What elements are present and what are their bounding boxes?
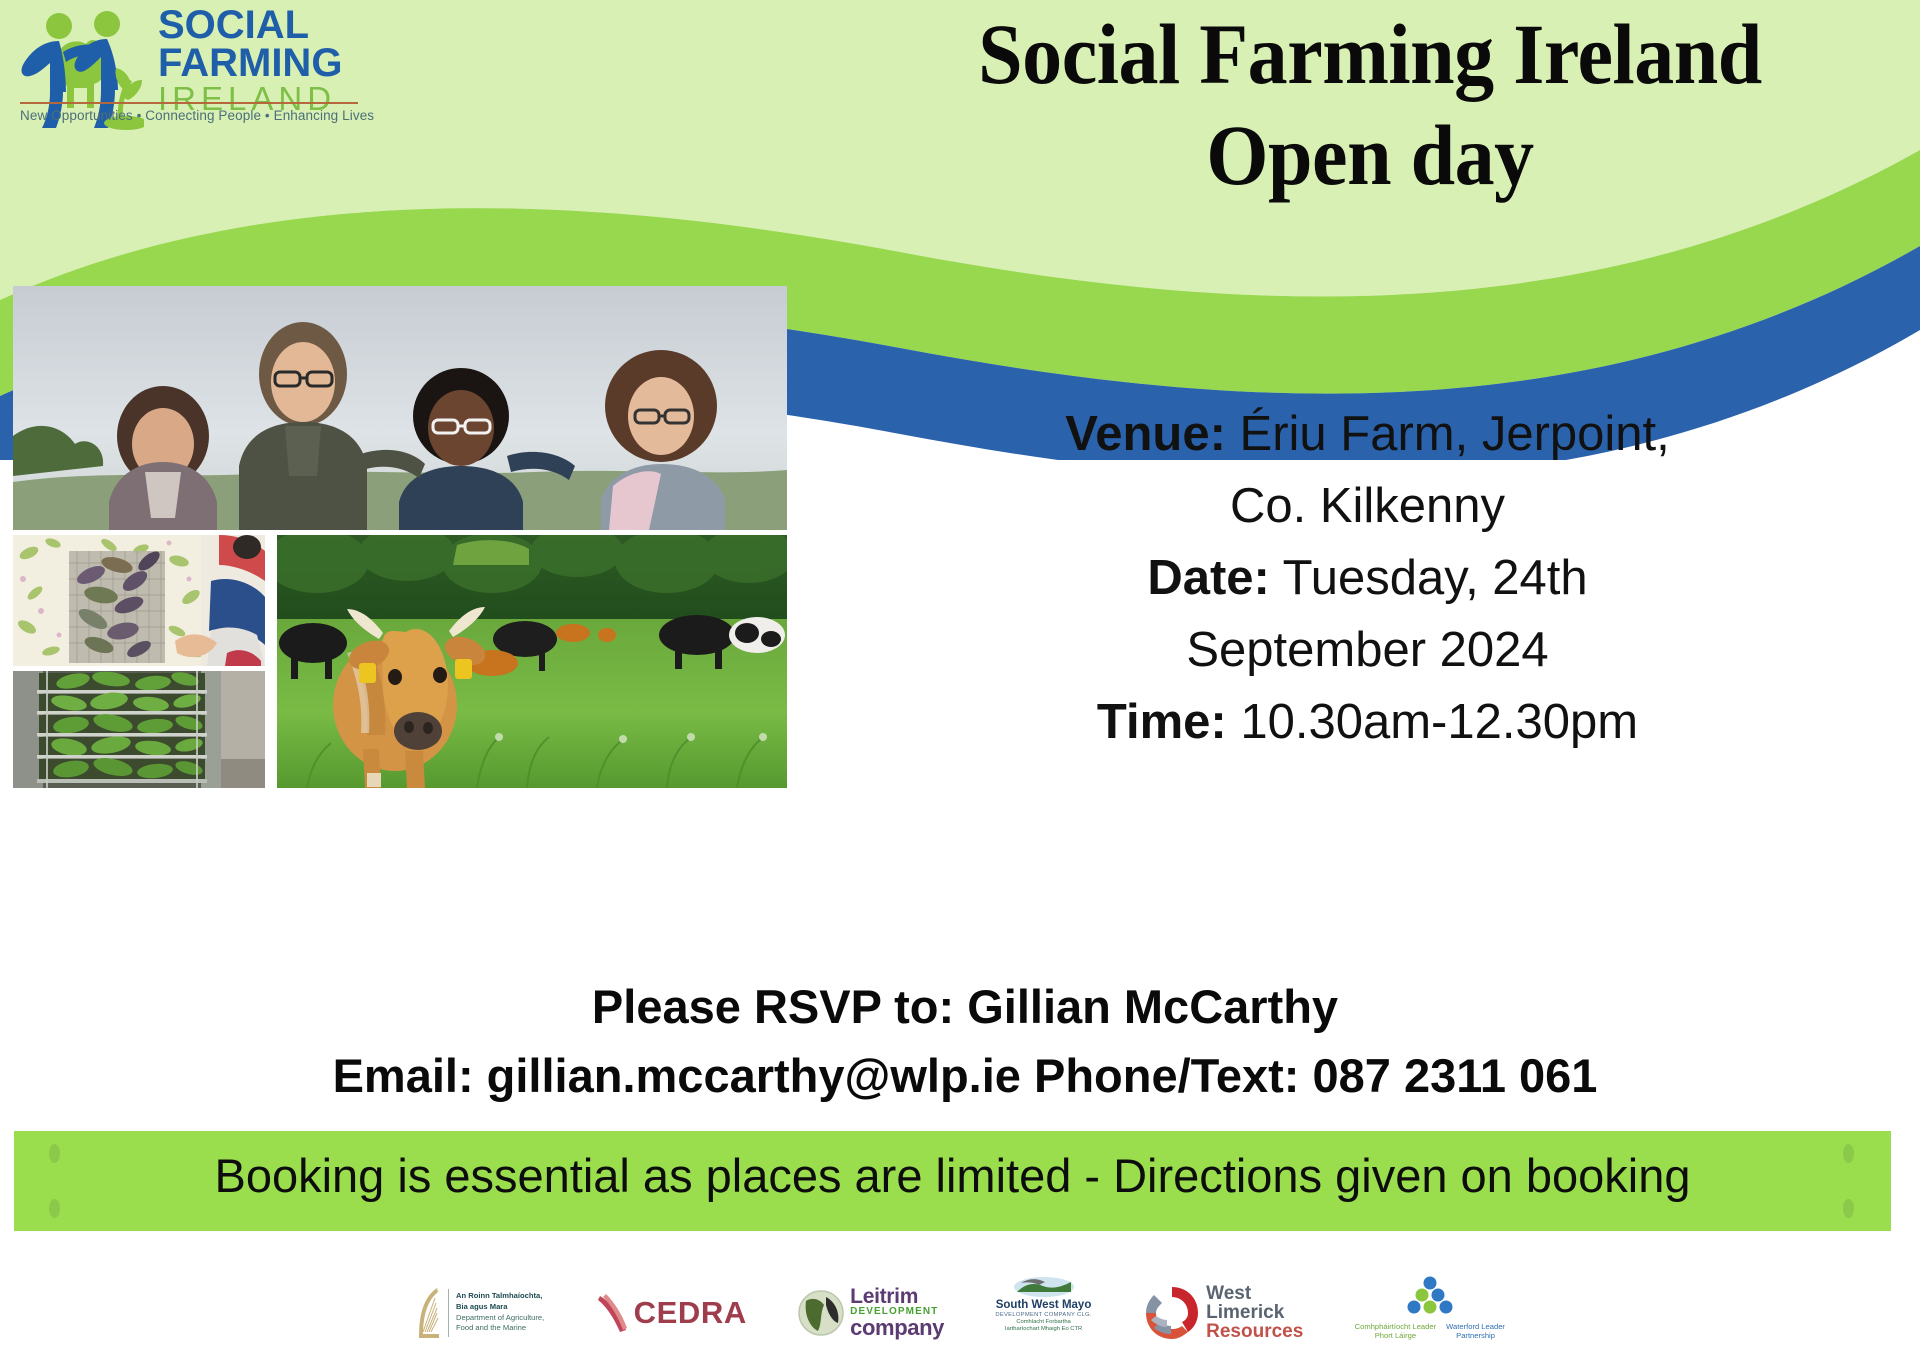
rsvp-contact-line: Please RSVP to: Gillian McCarthy (40, 978, 1890, 1035)
title-line-2: Open day (868, 105, 1872, 206)
swmayo-line-2: DEVELOPMENT COMPANY CLG. (995, 1312, 1091, 1318)
leitrim-line-1: Leitrim (850, 1286, 944, 1307)
cow-in-pasture-photo (277, 535, 787, 788)
venue-line-2: Co. Kilkenny (820, 470, 1915, 542)
dept-en-line-1: Department of Agriculture, (456, 1313, 544, 1324)
event-details: Venue: Ériu Farm, Jerpoint, Co. Kilkenny… (820, 398, 1915, 758)
leitrim-globe-icon (798, 1289, 844, 1337)
social-farming-ireland-logo: SOCIAL FARMING IRELAND New Opportunities… (10, 2, 370, 142)
logo-tagline: New Opportunities • Connecting People • … (20, 108, 365, 123)
waterford-leader-wordmark: Comhpháirtíocht Leader Phort Láirge Wate… (1355, 1322, 1505, 1341)
venue-label: Venue: (1065, 407, 1226, 461)
wlr-line-3: Resources (1206, 1322, 1303, 1341)
cedra-swoosh-icon (596, 1292, 630, 1334)
page-title: Social Farming Ireland Open day (830, 4, 1910, 207)
date-label: Date: (1147, 551, 1270, 605)
dept-en-line-2: Food and the Marine (456, 1323, 544, 1334)
logo-word-farming: FARMING (158, 44, 368, 82)
rsvp-email-phone-line: Email: gillian.mccarthy@wlp.ie Phone/Tex… (40, 1047, 1890, 1104)
wlp-ga-line-1: Comhpháirtíocht Leader (1355, 1322, 1436, 1331)
waterford-leader-cubes-icon (1400, 1276, 1460, 1320)
venue-line-1: Venue: Ériu Farm, Jerpoint, (820, 398, 1915, 470)
west-limerick-swirl-icon (1143, 1284, 1201, 1342)
time-value: 10.30am-12.30pm (1240, 695, 1638, 749)
dept-ga-line-1: An Roinn Talmhaíochta, (456, 1291, 544, 1302)
group-of-participants-photo (13, 286, 787, 530)
time-line: Time: 10.30am-12.30pm (820, 686, 1915, 758)
west-limerick-wordmark: West Limerick Resources (1206, 1284, 1303, 1341)
date-line-2: September 2024 (820, 614, 1915, 686)
title-line-1: Social Farming Ireland (868, 4, 1872, 105)
herbs-tray-photo (13, 535, 265, 666)
swmayo-line-4: Iartharíochart Mhaigh Eo CTR (1005, 1326, 1082, 1332)
dept-logo-divider (448, 1289, 449, 1337)
dept-agriculture-text: An Roinn Talmhaíochta, Bia agus Mara Dep… (456, 1291, 544, 1334)
swmayo-line-1: South West Mayo (996, 1299, 1092, 1311)
wlp-ga-line-2: Phort Láirge (1355, 1331, 1436, 1340)
swmayo-landscape-icon (1013, 1276, 1075, 1298)
waterford-leader-partnership-logo: Comhpháirtíocht Leader Phort Láirge Wate… (1355, 1276, 1505, 1350)
leitrim-wordmark: Leitrim DEVELOPMENT company (850, 1286, 944, 1339)
leitrim-line-3: company (850, 1317, 944, 1339)
logo-word-social: SOCIAL (158, 6, 368, 44)
drying-rack-photo (13, 671, 265, 788)
time-label: Time: (1097, 695, 1227, 749)
dept-ga-line-2: Bia agus Mara (456, 1302, 544, 1313)
south-west-mayo-development-logo: South West Mayo DEVELOPMENT COMPANY CLG.… (995, 1276, 1091, 1350)
booking-notice-text: Booking is essential as places are limit… (14, 1148, 1891, 1203)
swmayo-line-3: Comhlacht Forbartha (1016, 1319, 1070, 1325)
date-value-1: Tuesday, 24th (1283, 551, 1588, 605)
logo-divider-rule (20, 102, 358, 104)
wlp-en-line-1: Waterford Leader (1446, 1322, 1505, 1331)
date-line-1: Date: Tuesday, 24th (820, 542, 1915, 614)
venue-value-1: Ériu Farm, Jerpoint, (1240, 407, 1670, 461)
logo-wordmark: SOCIAL FARMING IRELAND (158, 6, 368, 117)
funder-logos-strip: An Roinn Talmhaíochta, Bia agus Mara Dep… (415, 1268, 1505, 1357)
leitrim-development-company-logo: Leitrim DEVELOPMENT company (798, 1276, 944, 1350)
wlp-english-name: Waterford Leader Partnership (1446, 1322, 1505, 1341)
wlr-line-1: West (1206, 1284, 1303, 1303)
cedra-wordmark: CEDRA (634, 1295, 747, 1331)
irish-harp-icon (415, 1286, 441, 1340)
poster-canvas: SOCIAL FARMING IRELAND New Opportunities… (0, 0, 1920, 1357)
dept-agriculture-logo: An Roinn Talmhaíochta, Bia agus Mara Dep… (415, 1276, 544, 1350)
wlr-line-2: Limerick (1206, 1303, 1303, 1322)
wlp-en-line-2: Partnership (1446, 1331, 1505, 1340)
booking-notice-banner: Booking is essential as places are limit… (14, 1131, 1891, 1231)
cedra-logo: CEDRA (596, 1276, 747, 1350)
wlp-irish-name: Comhpháirtíocht Leader Phort Láirge (1355, 1322, 1436, 1341)
rsvp-block: Please RSVP to: Gillian McCarthy Email: … (40, 978, 1890, 1105)
west-limerick-resources-logo: West Limerick Resources (1143, 1276, 1303, 1350)
